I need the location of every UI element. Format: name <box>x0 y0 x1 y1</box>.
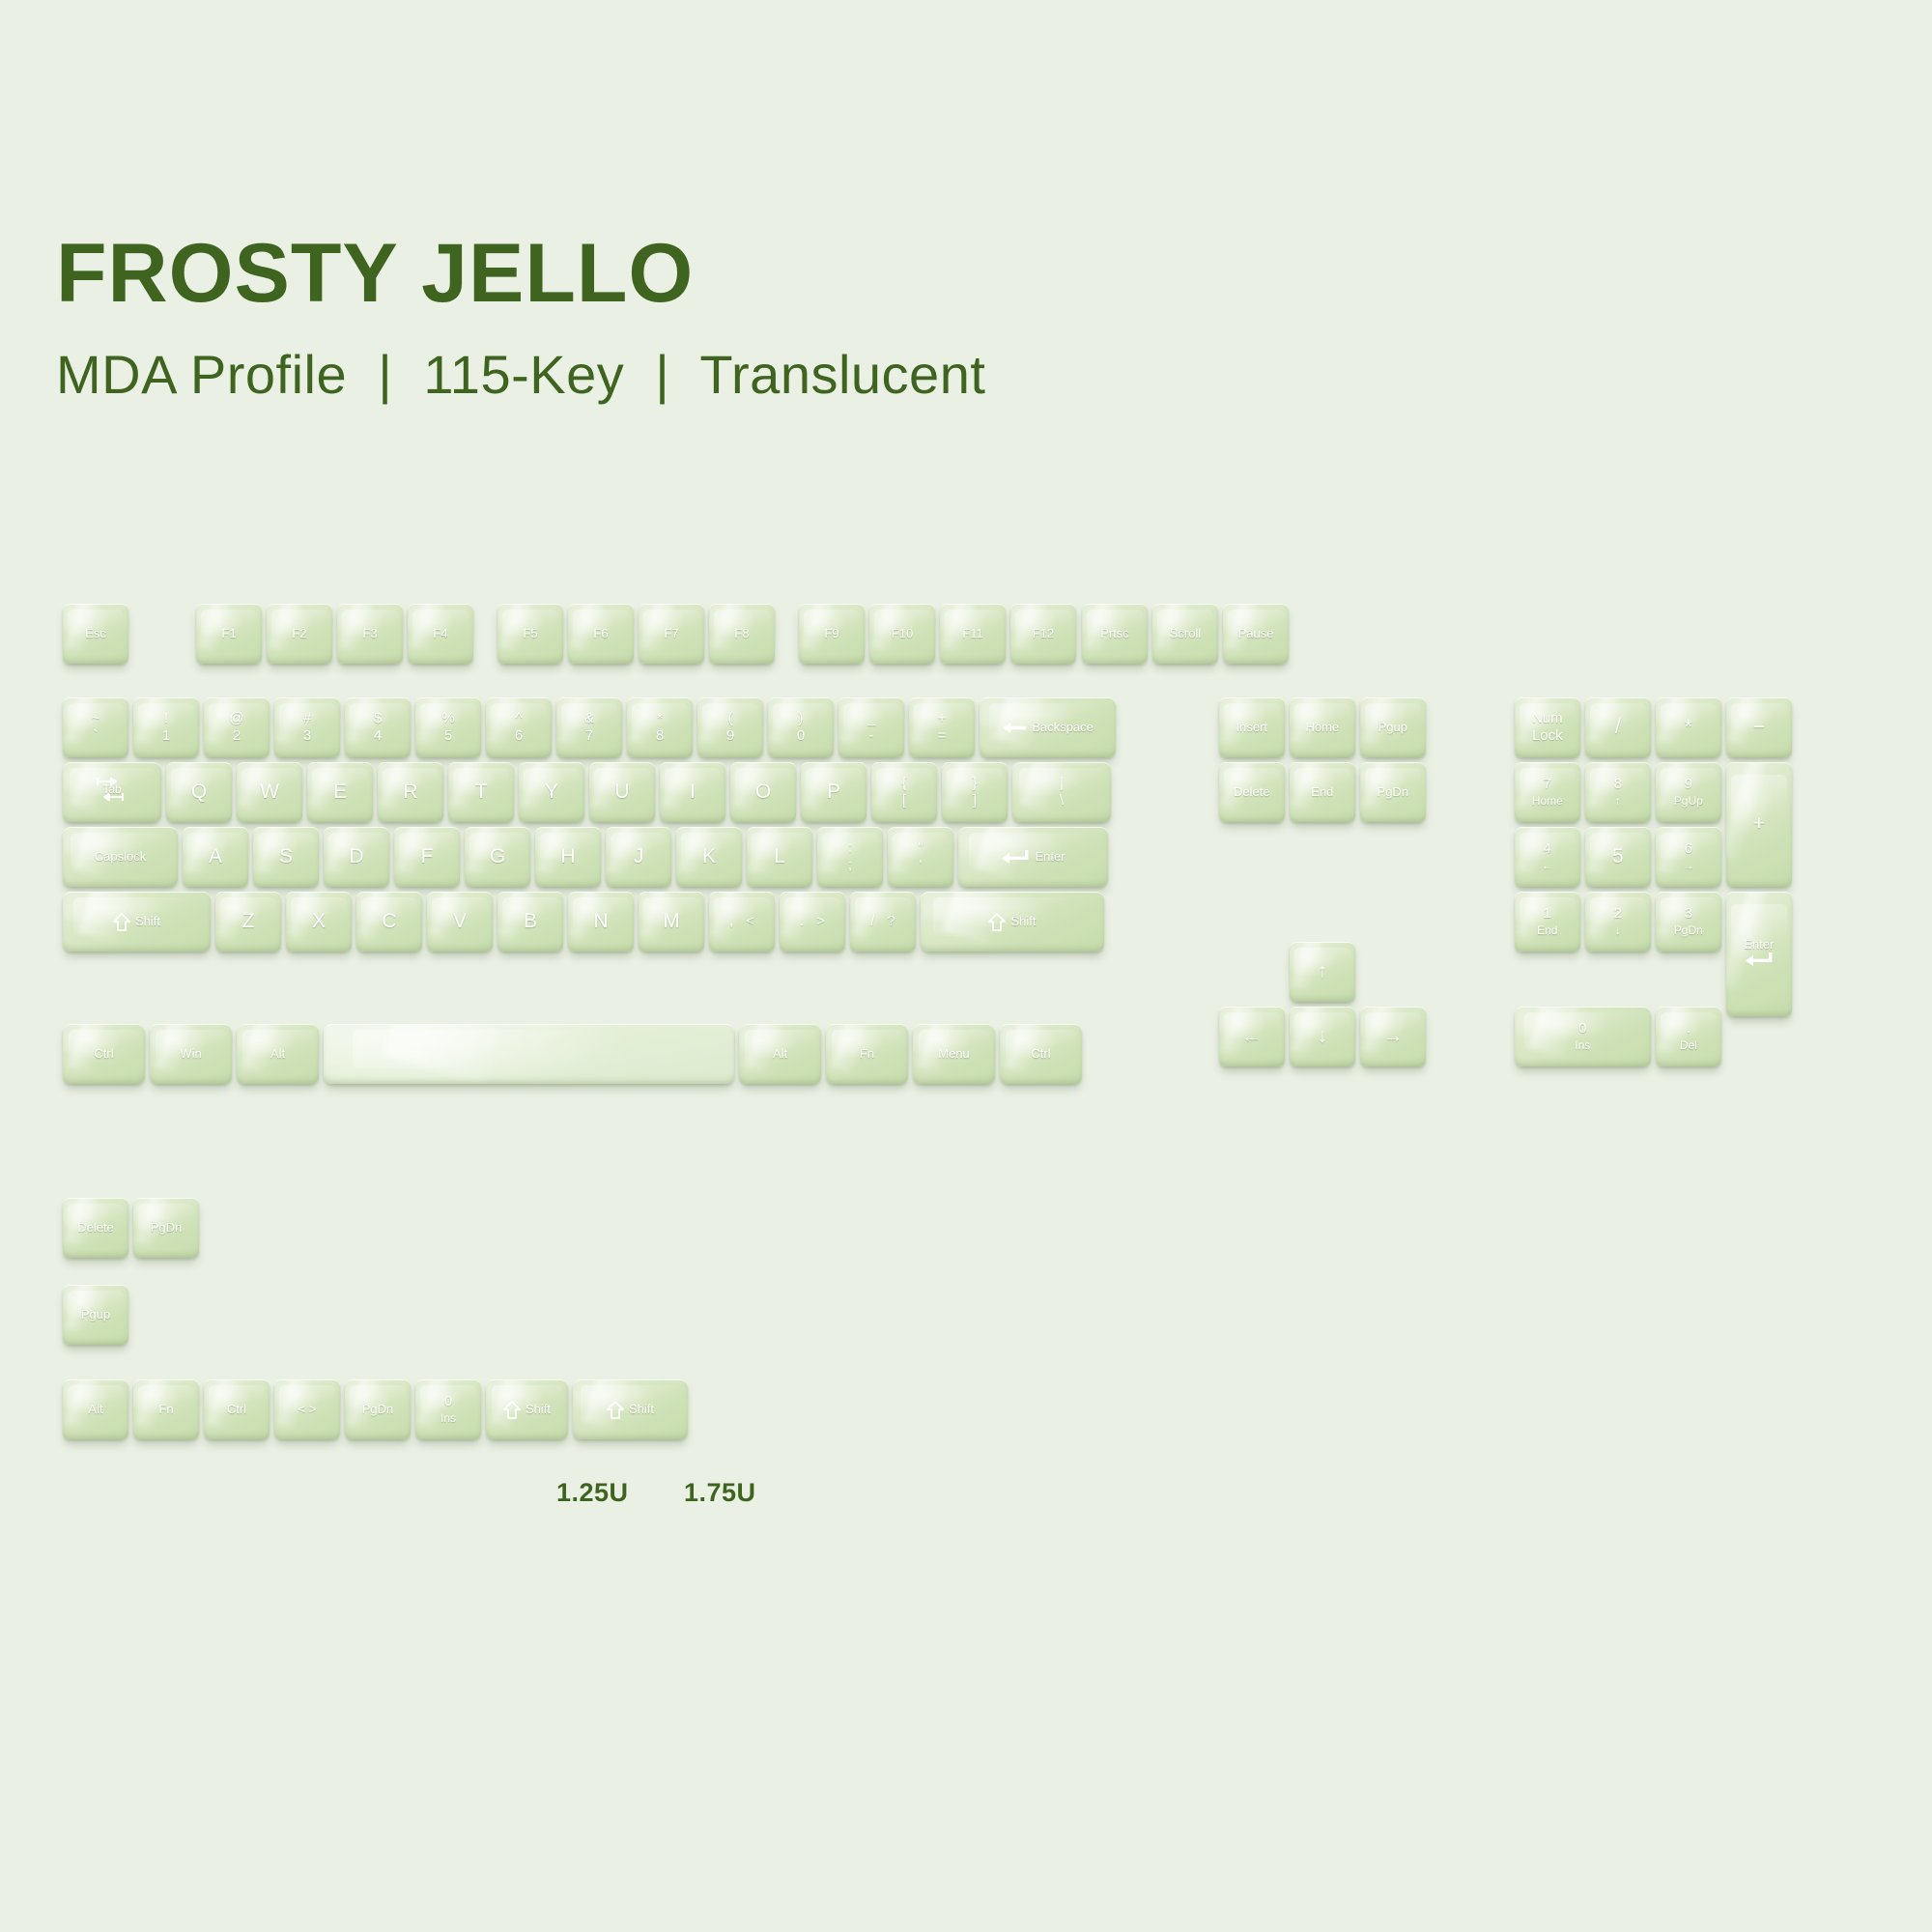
keycap-legend: F10 <box>892 626 913 640</box>
keycap-num-6[interactable]: ^6 <box>486 697 552 757</box>
keycap-backslash[interactable]: |\ <box>1012 762 1111 822</box>
keycap-legend: Alt <box>88 1402 102 1416</box>
keycap-legend: PgDn <box>1378 784 1409 799</box>
keycap-legend: Enter <box>1035 850 1065 864</box>
keycap-legend: X <box>312 910 326 932</box>
keycap-legend: Q <box>191 781 207 803</box>
keycap-legend-alt: ` <box>92 728 100 744</box>
keycap-legend-alt: End <box>1537 924 1557 937</box>
keycap-f5[interactable]: F5 <box>497 604 563 664</box>
keycap-np-1[interactable]: 1End <box>1515 892 1580 952</box>
keycap-z[interactable]: Z <box>215 892 281 952</box>
keycap-legend: 3 <box>1674 906 1703 922</box>
keycap-f1[interactable]: F1 <box>196 604 262 664</box>
keycap-win[interactable]: Win <box>150 1024 232 1084</box>
keycap-legend: H <box>560 845 575 867</box>
keycap-extra-iso[interactable]: < > <box>274 1379 340 1439</box>
keycap-legend: ↑ <box>1318 960 1328 982</box>
keycap-legend: : <box>848 840 852 856</box>
keycap-arrow-down[interactable]: ↓ <box>1290 1007 1355 1066</box>
keycap-legend-alt: 1 <box>162 728 170 744</box>
keycap-legend: 0 <box>440 1394 456 1409</box>
keycap-legend: O <box>755 781 771 803</box>
keycap-legend: ↓ <box>1318 1025 1328 1047</box>
keycap-legend: F <box>421 845 434 867</box>
keycap-legend: ^ <box>515 711 523 726</box>
keycap-f11[interactable]: F11 <box>940 604 1006 664</box>
keycap-legend: Pgup <box>1378 720 1407 734</box>
keycap-legend-alt: 6 <box>515 728 523 744</box>
keycap-legend: Y <box>545 781 558 803</box>
keycap-extra-delete[interactable]: Delete <box>63 1198 128 1258</box>
keycap-backspace[interactable]: Backspace <box>980 697 1116 757</box>
keycap-legend: Win <box>180 1046 201 1061</box>
size-annotation-0: 1.25U <box>556 1478 629 1508</box>
keycap-legend: R <box>403 781 417 803</box>
keycap-np-4[interactable]: 4← <box>1515 827 1580 887</box>
keycap-legend: PgDn <box>151 1220 183 1235</box>
keycap-legend-alt: > <box>816 914 825 929</box>
keycap-legend-alt: < <box>746 914 754 929</box>
keycap-legend: Shift <box>526 1403 551 1416</box>
keycap-f9[interactable]: F9 <box>799 604 865 664</box>
keycap-f10[interactable]: F10 <box>869 604 935 664</box>
keycap-legend: | <box>1060 776 1064 791</box>
keycap-y[interactable]: Y <box>519 762 584 822</box>
keycap-pause[interactable]: Pause <box>1223 604 1289 664</box>
keycap-legend-alt: \ <box>1060 793 1064 809</box>
keycap-arrow-left[interactable]: ← <box>1219 1007 1285 1066</box>
keycap-legend-alt: 8 <box>656 728 664 744</box>
keycap-f7[interactable]: F7 <box>639 604 704 664</box>
keycap-legend: K <box>702 845 716 867</box>
keycap-legend: Menu <box>938 1046 970 1061</box>
keycap-legend-alt: ' <box>918 858 923 873</box>
keycap-legend: Alt <box>270 1046 285 1061</box>
keycap-u[interactable]: U <box>589 762 655 822</box>
keycap-bracket-11[interactable]: {[ <box>871 762 937 822</box>
keycap-np-2[interactable]: 2↓ <box>1585 892 1651 952</box>
keycap-legend: 4 <box>1542 841 1553 857</box>
keycap-r[interactable]: R <box>378 762 443 822</box>
keycap-legend: A <box>209 845 222 867</box>
keycap-legend: F9 <box>824 626 838 640</box>
keycap-legend-alt: ↑ <box>1614 795 1622 808</box>
keycap-legend: Enter <box>1744 938 1774 952</box>
keycap-q[interactable]: Q <box>166 762 232 822</box>
keycap-legend: Ctrl <box>1031 1046 1050 1061</box>
keycap-legend: ( <box>726 711 734 726</box>
keycap-np-9[interactable]: 9PgUp <box>1656 762 1721 822</box>
keycap-ctrl-right[interactable]: Ctrl <box>1000 1024 1082 1084</box>
keycap-k[interactable]: K <box>676 827 742 887</box>
keycap-legend: * <box>656 711 664 726</box>
keycap-legend: Delete <box>77 1220 114 1235</box>
keycap-legend: N <box>593 910 608 932</box>
keycap-right-shift[interactable]: Shift <box>921 892 1104 952</box>
keycap-esc[interactable]: Esc <box>63 604 128 664</box>
keycap-num-2[interactable]: @2 <box>204 697 270 757</box>
keycap-legend: Pgup <box>81 1307 110 1321</box>
keycap-punct-10[interactable]: :; <box>817 827 883 887</box>
keycap-legend: F1 <box>221 626 236 640</box>
keycap-m[interactable]: M <box>639 892 704 952</box>
keycap-arrow-right[interactable]: → <box>1360 1007 1426 1066</box>
keycap-legend: Prtsc <box>1100 626 1129 640</box>
keycap-legend: Pause <box>1238 626 1274 640</box>
keycap-num-4[interactable]: $4 <box>345 697 411 757</box>
keycap-punct-11[interactable]: "' <box>888 827 953 887</box>
keycap-extra-fn[interactable]: Fn <box>133 1379 199 1439</box>
keycap-legend-alt: 9 <box>726 728 734 744</box>
keycap-prtsc[interactable]: Prtsc <box>1082 604 1148 664</box>
keycap-legend: Tab <box>96 783 128 796</box>
keycap-fn[interactable]: Fn <box>826 1024 908 1084</box>
keycap-legend-alt: Ins <box>440 1412 456 1425</box>
keycap-np-0[interactable]: 0Ins <box>1515 1007 1651 1066</box>
keycap-legend: Shift <box>1010 915 1036 928</box>
keycap-legend-alt: - <box>867 728 875 744</box>
keycap-legend: V <box>453 910 467 932</box>
keycap-legend-alt: [ <box>901 793 906 809</box>
keycap-legend: F12 <box>1033 626 1054 640</box>
keycap-legend-alt: PgDn <box>1674 924 1703 937</box>
keycap-legend: F8 <box>734 626 749 640</box>
keycap-legend: F6 <box>593 626 608 640</box>
keycap-extra-pgup[interactable]: Pgup <box>63 1285 128 1345</box>
keycap-x[interactable]: X <box>286 892 352 952</box>
keycap-legend: G <box>490 845 505 867</box>
keycap-num-5[interactable]: %5 <box>415 697 481 757</box>
keycap-delete[interactable]: Delete <box>1219 762 1285 822</box>
keycap-f2[interactable]: F2 <box>267 604 332 664</box>
keycap-alt-left[interactable]: Alt <box>237 1024 319 1084</box>
keycap-legend-alt: Ins <box>1575 1039 1590 1052</box>
keycap-capslock[interactable]: Capslock <box>63 827 178 887</box>
keycap-f8[interactable]: F8 <box>709 604 775 664</box>
keycap-legend: Home <box>1305 720 1339 734</box>
keycap-legend-alt: PgUp <box>1674 795 1703 808</box>
keycap-pgdn[interactable]: PgDn <box>1360 762 1426 822</box>
keycap-legend: Esc <box>85 626 106 640</box>
keycap-ctrl-left[interactable]: Ctrl <box>63 1024 145 1084</box>
keycap-legend: C <box>382 910 396 932</box>
keycap-w[interactable]: W <box>237 762 302 822</box>
keycap-legend: S <box>279 845 293 867</box>
keycap-legend: Fn <box>158 1402 173 1416</box>
keycap-d[interactable]: D <box>324 827 389 887</box>
keycap-legend: B <box>524 910 537 932</box>
keycap-legend: # <box>303 711 311 726</box>
keycap-insert[interactable]: Insert <box>1219 697 1285 757</box>
keycap-legend: } <box>972 776 977 791</box>
keycap-legend: * <box>1685 716 1692 738</box>
keycap-legend-alt: 7 <box>584 728 594 744</box>
keycap-legend: $ <box>374 711 382 726</box>
keycap-legend: 5 <box>1612 845 1624 867</box>
keycap-num-12[interactable]: += <box>909 697 975 757</box>
keycap-legend: / <box>1615 716 1621 738</box>
keycap-punct-9[interactable]: .> <box>780 892 845 952</box>
keycap-scroll[interactable]: Scroll <box>1152 604 1218 664</box>
keycap-num-7[interactable]: &7 <box>556 697 622 757</box>
keycap-v[interactable]: V <box>427 892 493 952</box>
keycap-punct-10[interactable]: /? <box>850 892 916 952</box>
keycap-t[interactable]: T <box>448 762 514 822</box>
keycap-legend: I <box>690 781 696 803</box>
keycap-legend: Shift <box>629 1403 654 1416</box>
keycap-num-9[interactable]: (9 <box>697 697 763 757</box>
keycap-np-3[interactable]: 3PgDn <box>1656 892 1721 952</box>
keycap-legend: + <box>1753 812 1765 835</box>
keycap-legend: − <box>1753 716 1765 738</box>
keycap-legend-alt: Del <box>1680 1039 1697 1052</box>
keycap-num-11[interactable]: _- <box>838 697 904 757</box>
keycap-legend: 7 <box>1532 777 1563 792</box>
keycap-bracket-12[interactable]: }] <box>942 762 1008 822</box>
keycap-extra-pgdn[interactable]: PgDn <box>133 1198 199 1258</box>
keycap-np-plus[interactable]: + <box>1726 762 1792 887</box>
keycap-legend: F3 <box>362 626 377 640</box>
keycap-pgup[interactable]: Pgup <box>1360 697 1426 757</box>
keycap-legend: ~ <box>92 711 100 726</box>
keycap-b[interactable]: B <box>497 892 563 952</box>
keycap-numlock[interactable]: NumLock <box>1515 697 1580 757</box>
keycap-legend: F11 <box>962 626 982 640</box>
keycap-legend-alt: 4 <box>374 728 382 744</box>
keycap-legend: F2 <box>292 626 306 640</box>
keycap-f3[interactable]: F3 <box>337 604 403 664</box>
keycap-legend: Capslock <box>95 849 146 864</box>
keycap-extra-shift-175[interactable]: Shift <box>573 1379 688 1439</box>
keycap-legend-alt: → <box>1683 860 1694 872</box>
keycap-legend: Num <box>1532 711 1563 726</box>
keycap-n[interactable]: N <box>568 892 634 952</box>
keycap-legend: & <box>584 711 594 726</box>
keycap-legend-alt: 5 <box>441 728 454 744</box>
keycap-np-minus[interactable]: − <box>1726 697 1792 757</box>
keycap-l[interactable]: L <box>747 827 812 887</box>
keycap-legend: + <box>938 711 947 726</box>
keycap-legend-alt: = <box>938 728 947 744</box>
keycap-legend: 9 <box>1674 777 1703 792</box>
keycap-f6[interactable]: F6 <box>568 604 634 664</box>
keycap-legend: D <box>349 845 363 867</box>
keycap-extra-pgdn[interactable]: PgDn <box>345 1379 411 1439</box>
keycap-enter[interactable]: Enter <box>958 827 1108 887</box>
keycap-legend: End <box>1311 784 1333 799</box>
keycap-num-1[interactable]: !1 <box>133 697 199 757</box>
keycap-f[interactable]: F <box>394 827 460 887</box>
size-annotation-1: 1.75U <box>684 1478 756 1508</box>
keycap-legend-alt: ↓ <box>1614 924 1622 937</box>
keycap-np-dot[interactable]: .Del <box>1656 1007 1721 1066</box>
keycap-legend-alt: ] <box>972 793 977 809</box>
keycap-legend: " <box>918 840 923 856</box>
keycap-legend: { <box>901 776 906 791</box>
keycap-legend: E <box>333 781 347 803</box>
keycap-np-divide[interactable]: / <box>1585 697 1651 757</box>
keycap-legend: ) <box>797 711 805 726</box>
keycap-legend: M <box>663 910 680 932</box>
keycap-legend-alt: ; <box>848 858 852 873</box>
keycap-legend-alt: Home <box>1532 795 1563 808</box>
keycap-legend: F5 <box>523 626 537 640</box>
keycap-legend: Z <box>242 910 255 932</box>
keycap-extra-zero[interactable]: 0Ins <box>415 1379 481 1439</box>
keycap-legend: % <box>441 711 454 726</box>
keycap-space[interactable] <box>324 1024 734 1084</box>
keycap-num-3[interactable]: #3 <box>274 697 340 757</box>
keycap-e[interactable]: E <box>307 762 373 822</box>
keycap-num-10[interactable]: )0 <box>768 697 834 757</box>
keycap-legend: Alt <box>773 1046 787 1061</box>
keycap-legend: , <box>729 914 733 929</box>
keycap-legend: F4 <box>433 626 447 640</box>
keycap-a[interactable]: A <box>183 827 248 887</box>
keycap-num-8[interactable]: *8 <box>627 697 693 757</box>
keycap-legend: @ <box>229 711 243 726</box>
keycap-legend: ! <box>162 711 170 726</box>
keycap-legend: P <box>827 781 840 803</box>
keycap-legend: 2 <box>1614 906 1622 922</box>
keycap-legend: Scroll <box>1170 626 1202 640</box>
keycap-legend: Delete <box>1234 784 1270 799</box>
keycap-menu[interactable]: Menu <box>913 1024 995 1084</box>
keycap-home[interactable]: Home <box>1290 697 1355 757</box>
keycap-arrow-up[interactable]: ↑ <box>1290 942 1355 1002</box>
keycap-legend: _ <box>867 711 875 726</box>
keycap-np-multiply[interactable]: * <box>1656 697 1721 757</box>
keycap-legend: W <box>260 781 279 803</box>
keycap-legend: U <box>614 781 629 803</box>
keycap-np-7[interactable]: 7Home <box>1515 762 1580 822</box>
keycap-legend: < > <box>298 1402 317 1416</box>
keycap-legend: 6 <box>1683 841 1694 857</box>
keycap-legend: 8 <box>1614 777 1622 792</box>
keycap-left-shift[interactable]: Shift <box>63 892 211 952</box>
keycap-np-5[interactable]: 5 <box>1585 827 1651 887</box>
keycap-legend-alt: 2 <box>229 728 243 744</box>
keycap-h[interactable]: H <box>535 827 601 887</box>
keycap-f4[interactable]: F4 <box>408 604 473 664</box>
keycap-alt-right[interactable]: Alt <box>739 1024 821 1084</box>
keycap-set-layout: EscF1F2F3F4F5F6F7F8F9F10F11F12PrtscScrol… <box>0 0 1932 1932</box>
keycap-o[interactable]: O <box>730 762 796 822</box>
keycap-legend: Shift <box>135 915 160 928</box>
keycap-legend: → <box>1382 1025 1403 1047</box>
keycap-legend: F7 <box>664 626 678 640</box>
keycap-legend: . <box>1680 1021 1697 1037</box>
keycap-s[interactable]: S <box>253 827 319 887</box>
keycap-legend: J <box>634 845 644 867</box>
keycap-extra-shift-125[interactable]: Shift <box>486 1379 568 1439</box>
keycap-legend: Insert <box>1236 720 1268 734</box>
keycap-punct-8[interactable]: ,< <box>709 892 775 952</box>
keycap-legend-alt: Lock <box>1532 728 1563 744</box>
keycap-num-0[interactable]: ~` <box>63 697 128 757</box>
keycap-extra-alt[interactable]: Alt <box>63 1379 128 1439</box>
keycap-legend-alt: ← <box>1542 860 1553 872</box>
keycap-legend: Ctrl <box>94 1046 113 1061</box>
keycap-np-enter[interactable]: Enter <box>1726 892 1792 1016</box>
keycap-np-6[interactable]: 6→ <box>1656 827 1721 887</box>
keycap-c[interactable]: C <box>356 892 422 952</box>
keycap-i[interactable]: I <box>660 762 725 822</box>
keycap-f12[interactable]: F12 <box>1010 604 1076 664</box>
keycap-p[interactable]: P <box>801 762 867 822</box>
keycap-legend: T <box>475 781 488 803</box>
keycap-g[interactable]: G <box>465 827 530 887</box>
keycap-tab[interactable]: Tab <box>63 762 161 822</box>
keycap-legend: / <box>870 914 874 929</box>
keycap-legend: Fn <box>860 1046 874 1061</box>
keycap-legend: Backspace <box>1032 721 1094 734</box>
keycap-legend: . <box>800 914 804 929</box>
keycap-legend-alt: ? <box>887 914 895 929</box>
keycap-end[interactable]: End <box>1290 762 1355 822</box>
keycap-legend: PgDn <box>362 1402 394 1416</box>
keycap-legend: Ctrl <box>227 1402 246 1416</box>
keycap-legend-alt: 3 <box>303 728 311 744</box>
keycap-legend: 1 <box>1537 906 1557 922</box>
keycap-legend: L <box>774 845 785 867</box>
keycap-legend-alt: 0 <box>797 728 805 744</box>
keycap-j[interactable]: J <box>606 827 671 887</box>
keycap-extra-ctrl[interactable]: Ctrl <box>204 1379 270 1439</box>
keycap-np-8[interactable]: 8↑ <box>1585 762 1651 822</box>
keycap-legend: ← <box>1241 1025 1262 1047</box>
keycap-legend: 0 <box>1575 1021 1590 1037</box>
